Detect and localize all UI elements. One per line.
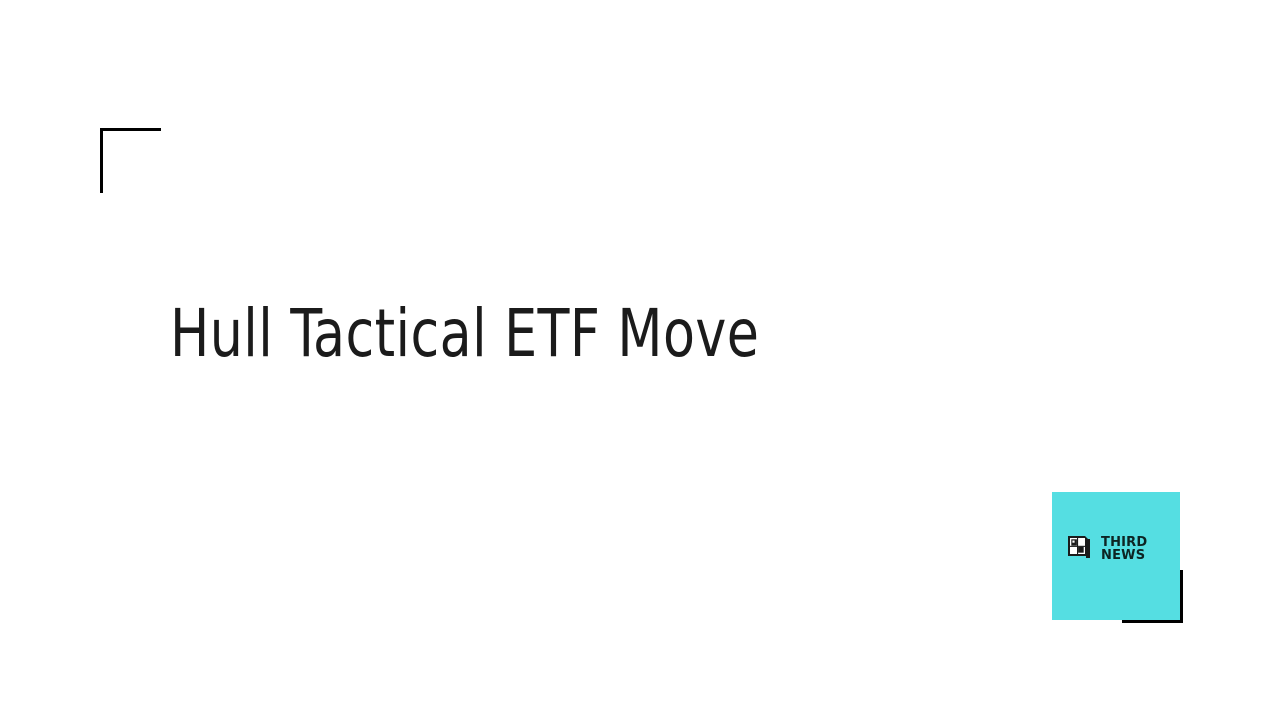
brand-wordmark-line-2: NEWS <box>1101 549 1147 562</box>
brand-logo-lockup: THIRD NEWS <box>1066 534 1147 563</box>
brand-logo-tile: THIRD NEWS <box>1052 492 1180 620</box>
newspaper-icon <box>1066 534 1095 563</box>
brand-wordmark: THIRD NEWS <box>1101 536 1147 562</box>
title-slide: Hull Tactical ETF Move <box>0 0 1280 720</box>
corner-bracket-top-left <box>100 128 161 193</box>
corner-bracket-top-left-vertical-arm <box>100 128 103 193</box>
corner-bracket-top-left-horizontal-arm <box>100 128 161 131</box>
slide-title: Hull Tactical ETF Move <box>170 296 962 372</box>
brand-wordmark-line-1: THIRD <box>1101 536 1147 549</box>
